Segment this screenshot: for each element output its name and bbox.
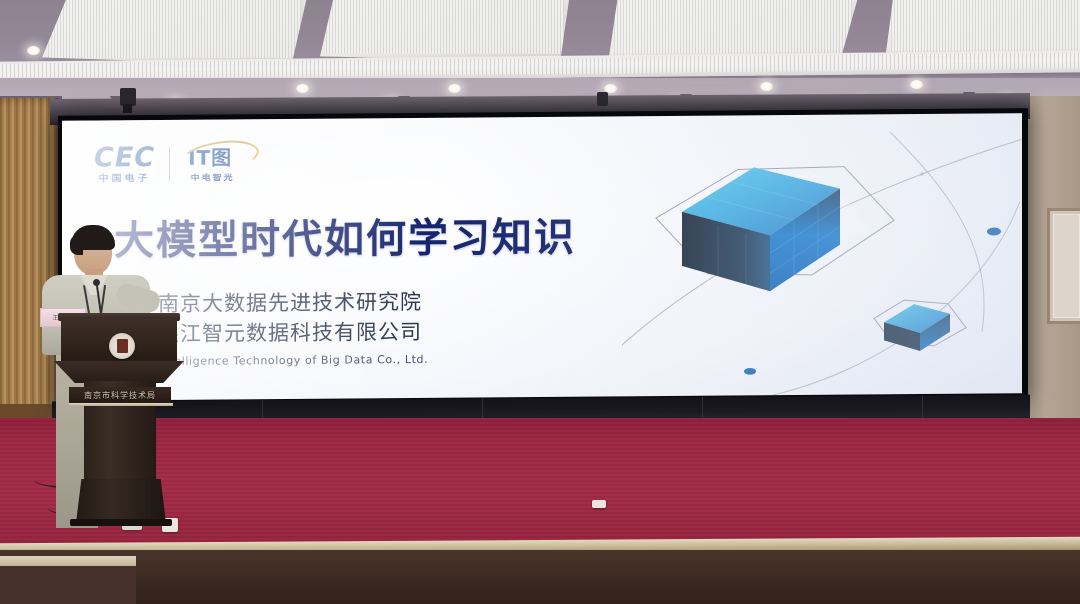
cec-logo-mark: CEC — [94, 144, 155, 171]
conference-hall-photo: CEC 中国电子 IT图 中电智光 大模型时代如何学习知识 南京大数据先进技术研… — [0, 0, 1080, 604]
microphone-icon — [93, 279, 100, 286]
panel-grille — [48, 0, 301, 58]
ceiling-spotlight — [448, 84, 461, 93]
camera-icon — [120, 88, 136, 106]
cec-logo-subtitle: 中国电子 — [99, 175, 151, 184]
stage-step-face — [0, 566, 136, 604]
panel-grille — [326, 0, 564, 54]
ceiling-light-panel — [42, 0, 307, 66]
slide-subtitle-line-2: 银江智元数据科技有限公司 — [158, 318, 422, 350]
slide-title: 大模型时代如何学习知识 — [114, 205, 576, 267]
panel-grille — [891, 0, 1080, 52]
logo-divider — [169, 147, 170, 181]
slide-subtitle-line-1: 南京大数据先进技术研究院 — [158, 288, 422, 320]
podium: 南京市科学技术局 — [58, 313, 180, 529]
podium-name-plate-text: 南京市科学技术局 — [84, 390, 156, 401]
presentation-screen[interactable]: CEC 中国电子 IT图 中电智光 大模型时代如何学习知识 南京大数据先进技术研… — [62, 113, 1022, 401]
itg-logo: IT图 中电智光 — [184, 145, 241, 182]
ceiling-spotlight — [760, 82, 773, 91]
slide-subtitle: 南京大数据先进技术研究院 银江智元数据科技有限公司 — [158, 288, 422, 350]
ceiling-light-panel — [320, 0, 570, 62]
panel-grille — [614, 0, 852, 60]
floor-device — [592, 500, 606, 508]
swoosh-icon — [179, 135, 260, 176]
ceiling-spotlight — [296, 84, 309, 93]
slide-logo-row: CEC 中国电子 IT图 中电智光 — [94, 143, 241, 184]
podium-front-panel — [61, 319, 177, 363]
camera-icon — [597, 92, 608, 106]
cec-logo: CEC 中国电子 — [94, 144, 155, 184]
presenter-hair — [71, 225, 115, 250]
podium-name-plate: 南京市科学技术局 — [69, 387, 171, 404]
orbit-dot — [744, 368, 756, 375]
slide-artwork — [622, 131, 1022, 396]
podium-base — [76, 479, 166, 523]
stage-riser — [0, 550, 1080, 604]
itg-logo-subtitle: 中电智光 — [191, 173, 235, 181]
itg-logo-mark: IT图 — [184, 145, 241, 169]
orbit-dot — [987, 227, 1001, 235]
podium-foot — [70, 519, 172, 526]
isometric-cube-graphic — [622, 131, 1022, 396]
ceiling-spotlight — [910, 80, 923, 89]
institution-emblem — [109, 333, 135, 359]
slide-subtitle-english: Intelligence Technology of Big Data Co.,… — [158, 353, 428, 368]
ceiling-spotlight — [27, 46, 40, 55]
podium-plate-trim — [69, 403, 173, 406]
podium-shoulder — [54, 361, 184, 383]
wall-framed-panel — [1047, 208, 1080, 324]
